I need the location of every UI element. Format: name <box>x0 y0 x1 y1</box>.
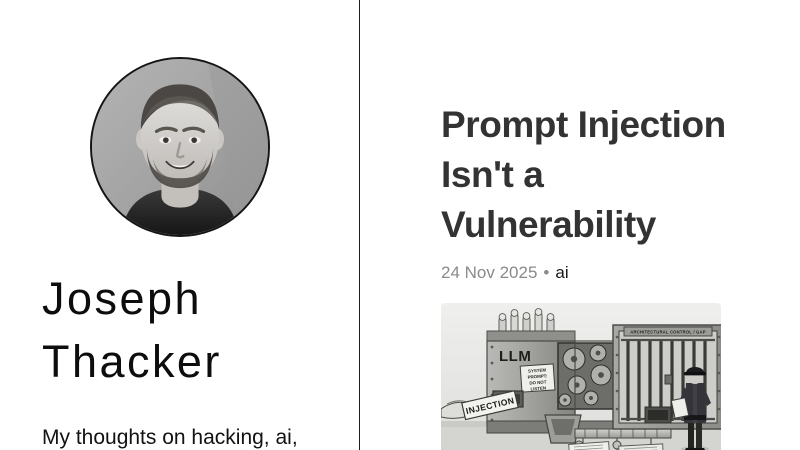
post-thumbnail[interactable]: LLM SYSTEM PROMPT: DO NOT LISTEN <box>441 303 721 450</box>
post-date: 24 Nov 2025 <box>441 262 537 284</box>
post-tag-link[interactable]: ai <box>555 262 568 284</box>
avatar[interactable] <box>90 57 270 237</box>
blog-home-page: Joseph Thacker My thoughts on hacking, a… <box>0 0 800 450</box>
page-title: Joseph Thacker <box>42 267 302 393</box>
post-list: Prompt Injection Isn't a Vulnerability 2… <box>360 0 800 450</box>
profile-sidebar: Joseph Thacker My thoughts on hacking, a… <box>0 0 360 450</box>
svg-text:ARCHITECTURAL CONTROL / GAP: ARCHITECTURAL CONTROL / GAP <box>630 330 706 335</box>
svg-text:LLM: LLM <box>499 348 531 365</box>
prompt-injection-illustration-icon: LLM SYSTEM PROMPT: DO NOT LISTEN <box>441 303 721 450</box>
meta-separator: • <box>543 262 549 284</box>
profile-tagline: My thoughts on hacking, ai, faith, and m… <box>42 419 318 450</box>
post-title-link[interactable]: Prompt Injection Isn't a Vulnerability <box>441 100 731 250</box>
avatar-wrapper <box>90 57 270 237</box>
post-list-item: Prompt Injection Isn't a Vulnerability 2… <box>441 100 800 450</box>
avatar-photo-icon <box>92 59 268 235</box>
post-meta: 24 Nov 2025 • ai <box>441 262 800 284</box>
